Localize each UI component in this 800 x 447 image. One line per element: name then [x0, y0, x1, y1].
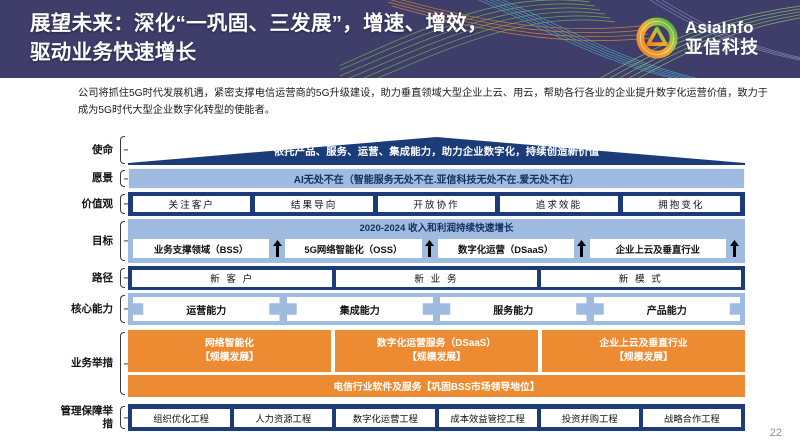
slide-root: 展望未来：深化“一巩固、三发展”，增速、增效， 驱动业务快速增长 AsiaInf… [0, 0, 800, 447]
management-chip[interactable]: 数字化运营工程 [336, 409, 434, 427]
asiainfo-logo: AsiaInfo 亚信科技 [636, 12, 788, 64]
logo-name-cn: 亚信科技 [685, 39, 759, 57]
management-chip[interactable]: 成本效益管控工程 [439, 409, 537, 427]
strategy-matrix: 使命 依托产品、服务、运营、集成能力，助力企业数字化，持续创造新价值 愿景 AI… [55, 134, 745, 432]
up-arrow-icon [728, 239, 740, 258]
up-arrow-icon [424, 239, 436, 258]
logo-wordmark: AsiaInfo 亚信科技 [685, 19, 759, 57]
business-measure-line2: 【规模发展】 [407, 351, 466, 365]
goals-header-text: 2020-2024 收入和利润持续快速增长 [133, 222, 740, 236]
business-measure-line1: 数字化运营服务（DSaaS） [377, 337, 496, 351]
row-management-measures: 管理保障举措 组织优化工程 人力资源工程 数字化运营工程 成本效益管控工程 投资… [55, 404, 745, 431]
mission-text: 依托产品、服务、运营、集成能力，助力企业数字化，持续创造新价值 [128, 143, 745, 158]
row-body-goals: 2020-2024 收入和利润持续快速增长 业务支撑领域（BSS） 5G网络智能… [128, 219, 745, 263]
slide-header: 展望未来：深化“一巩固、三发展”，增速、增效， 驱动业务快速增长 AsiaInf… [0, 0, 800, 78]
goal-chip[interactable]: 业务支撑领域（BSS） [133, 239, 269, 258]
row-body-core-capability: 运营能力 集成能力 服务能力 产品能力 [128, 293, 745, 325]
brace-core-capability [117, 293, 128, 325]
row-body-mission: 依托产品、服务、运营、集成能力，助力企业数字化，持续创造新价值 [128, 134, 745, 166]
brace-business-measures [117, 330, 128, 397]
values-bar: 关注客户 结果导向 开放协作 追求效能 拥抱变化 [128, 192, 745, 216]
row-label-business-measures: 业务举措 [55, 357, 117, 370]
page-title: 展望未来：深化“一巩固、三发展”，增速、增效， 驱动业务快速增长 [30, 9, 640, 67]
row-body-business-measures: 网络智能化 【规模发展】 数字化运营服务（DSaaS） 【规模发展】 企业上云及… [128, 330, 745, 397]
value-chip[interactable]: 结果导向 [255, 196, 372, 212]
row-body-vision: AI无处不在（智能服务无处不在.亚信科技无处不在.爱无处不在） [128, 168, 745, 189]
intro-paragraph: 公司将抓住5G时代发展机遇，紧密支撑电信运营商的5G升级建设，助力垂直领域大型企… [78, 86, 768, 119]
capability-chip[interactable]: 运营能力 [133, 297, 280, 321]
business-measures-wrap: 网络智能化 【规模发展】 数字化运营服务（DSaaS） 【规模发展】 企业上云及… [128, 330, 745, 397]
row-values: 价值观 关注客户 结果导向 开放协作 追求效能 拥抱变化 [55, 192, 745, 216]
path-chip[interactable]: 新 模 式 [541, 270, 741, 287]
up-arrow-icon [576, 239, 588, 258]
value-chip[interactable]: 追求效能 [500, 196, 617, 212]
management-bar: 组织优化工程 人力资源工程 数字化运营工程 成本效益管控工程 投资并购工程 战略… [128, 404, 745, 431]
up-arrow-icon [271, 239, 283, 258]
path-chip[interactable]: 新 业 务 [336, 270, 536, 287]
row-label-values: 价值观 [55, 198, 117, 211]
business-measure-line2: 【规模发展】 [200, 351, 259, 365]
brace-management-measures [117, 404, 128, 431]
row-body-values: 关注客户 结果导向 开放协作 追求效能 拥抱变化 [128, 192, 745, 216]
row-label-vision: 愿景 [55, 172, 117, 185]
row-label-management-measures: 管理保障举措 [55, 405, 117, 431]
business-measure-chip[interactable]: 网络智能化 【规模发展】 [128, 330, 331, 372]
business-measure-chip[interactable]: 企业上云及垂直行业 【规模发展】 [542, 330, 745, 372]
row-label-mission: 使命 [55, 144, 117, 157]
management-chip[interactable]: 组织优化工程 [132, 409, 230, 427]
value-chip[interactable]: 开放协作 [378, 196, 495, 212]
management-chip[interactable]: 投资并购工程 [541, 409, 639, 427]
row-mission: 使命 依托产品、服务、运营、集成能力，助力企业数字化，持续创造新价值 [55, 134, 745, 166]
page-number: 22 [770, 427, 782, 439]
brace-mission [117, 134, 128, 166]
brace-path [117, 266, 128, 290]
row-path: 路径 新 客 户 新 业 务 新 模 式 [55, 266, 745, 290]
capability-chip[interactable]: 服务能力 [440, 297, 587, 321]
row-body-management-measures: 组织优化工程 人力资源工程 数字化运营工程 成本效益管控工程 投资并购工程 战略… [128, 404, 745, 431]
path-chip[interactable]: 新 客 户 [132, 270, 332, 287]
brace-values [117, 192, 128, 216]
row-vision: 愿景 AI无处不在（智能服务无处不在.亚信科技无处不在.爱无处不在） [55, 168, 745, 189]
row-body-path: 新 客 户 新 业 务 新 模 式 [128, 266, 745, 290]
goal-chip[interactable]: 5G网络智能化（OSS） [285, 239, 421, 258]
business-measure-chip[interactable]: 数字化运营服务（DSaaS） 【规模发展】 [335, 330, 538, 372]
row-goals: 目标 2020-2024 收入和利润持续快速增长 业务支撑领域（BSS） 5G网… [55, 219, 745, 263]
business-measures-top: 网络智能化 【规模发展】 数字化运营服务（DSaaS） 【规模发展】 企业上云及… [128, 330, 745, 372]
vision-bar: AI无处不在（智能服务无处不在.亚信科技无处不在.爱无处不在） [128, 168, 745, 189]
brace-vision [117, 168, 128, 189]
business-measure-line1: 企业上云及垂直行业 [599, 337, 687, 351]
row-business-measures: 业务举措 网络智能化 【规模发展】 数字化运营服务（DSaaS） 【规模发展】 [55, 330, 745, 397]
business-measure-line1: 网络智能化 [205, 337, 254, 351]
goal-chip[interactable]: 数字化运营（DSaaS） [438, 239, 574, 258]
row-core-capability: 核心能力 运营能力 集成能力 服务能力 产品能力 [55, 293, 745, 325]
goal-chip[interactable]: 企业上云及垂直行业 [590, 239, 726, 258]
management-chip[interactable]: 战略合作工程 [643, 409, 741, 427]
management-chip[interactable]: 人力资源工程 [234, 409, 332, 427]
row-label-path: 路径 [55, 272, 117, 285]
value-chip[interactable]: 拥抱变化 [623, 196, 740, 212]
logo-name-en: AsiaInfo [685, 19, 759, 36]
capability-bar: 运营能力 集成能力 服务能力 产品能力 [128, 293, 745, 325]
goals-box: 2020-2024 收入和利润持续快速增长 业务支撑领域（BSS） 5G网络智能… [128, 219, 745, 263]
business-measure-line2: 【规模发展】 [614, 351, 673, 365]
asiainfo-ring-logo-icon [636, 17, 678, 59]
value-chip[interactable]: 关注客户 [133, 196, 250, 212]
business-measure-footer-bar[interactable]: 电信行业软件及服务【巩固BSS市场领导地位】 [128, 375, 745, 397]
capability-chip[interactable]: 集成能力 [287, 297, 434, 321]
goals-items: 业务支撑领域（BSS） 5G网络智能化（OSS） 数字化运营（DSaaS） 企业… [133, 238, 740, 259]
brace-goals [117, 219, 128, 263]
row-label-goals: 目标 [55, 235, 117, 248]
row-label-core-capability: 核心能力 [55, 303, 117, 316]
path-bar: 新 客 户 新 业 务 新 模 式 [128, 266, 745, 290]
capability-chip[interactable]: 产品能力 [594, 297, 741, 321]
